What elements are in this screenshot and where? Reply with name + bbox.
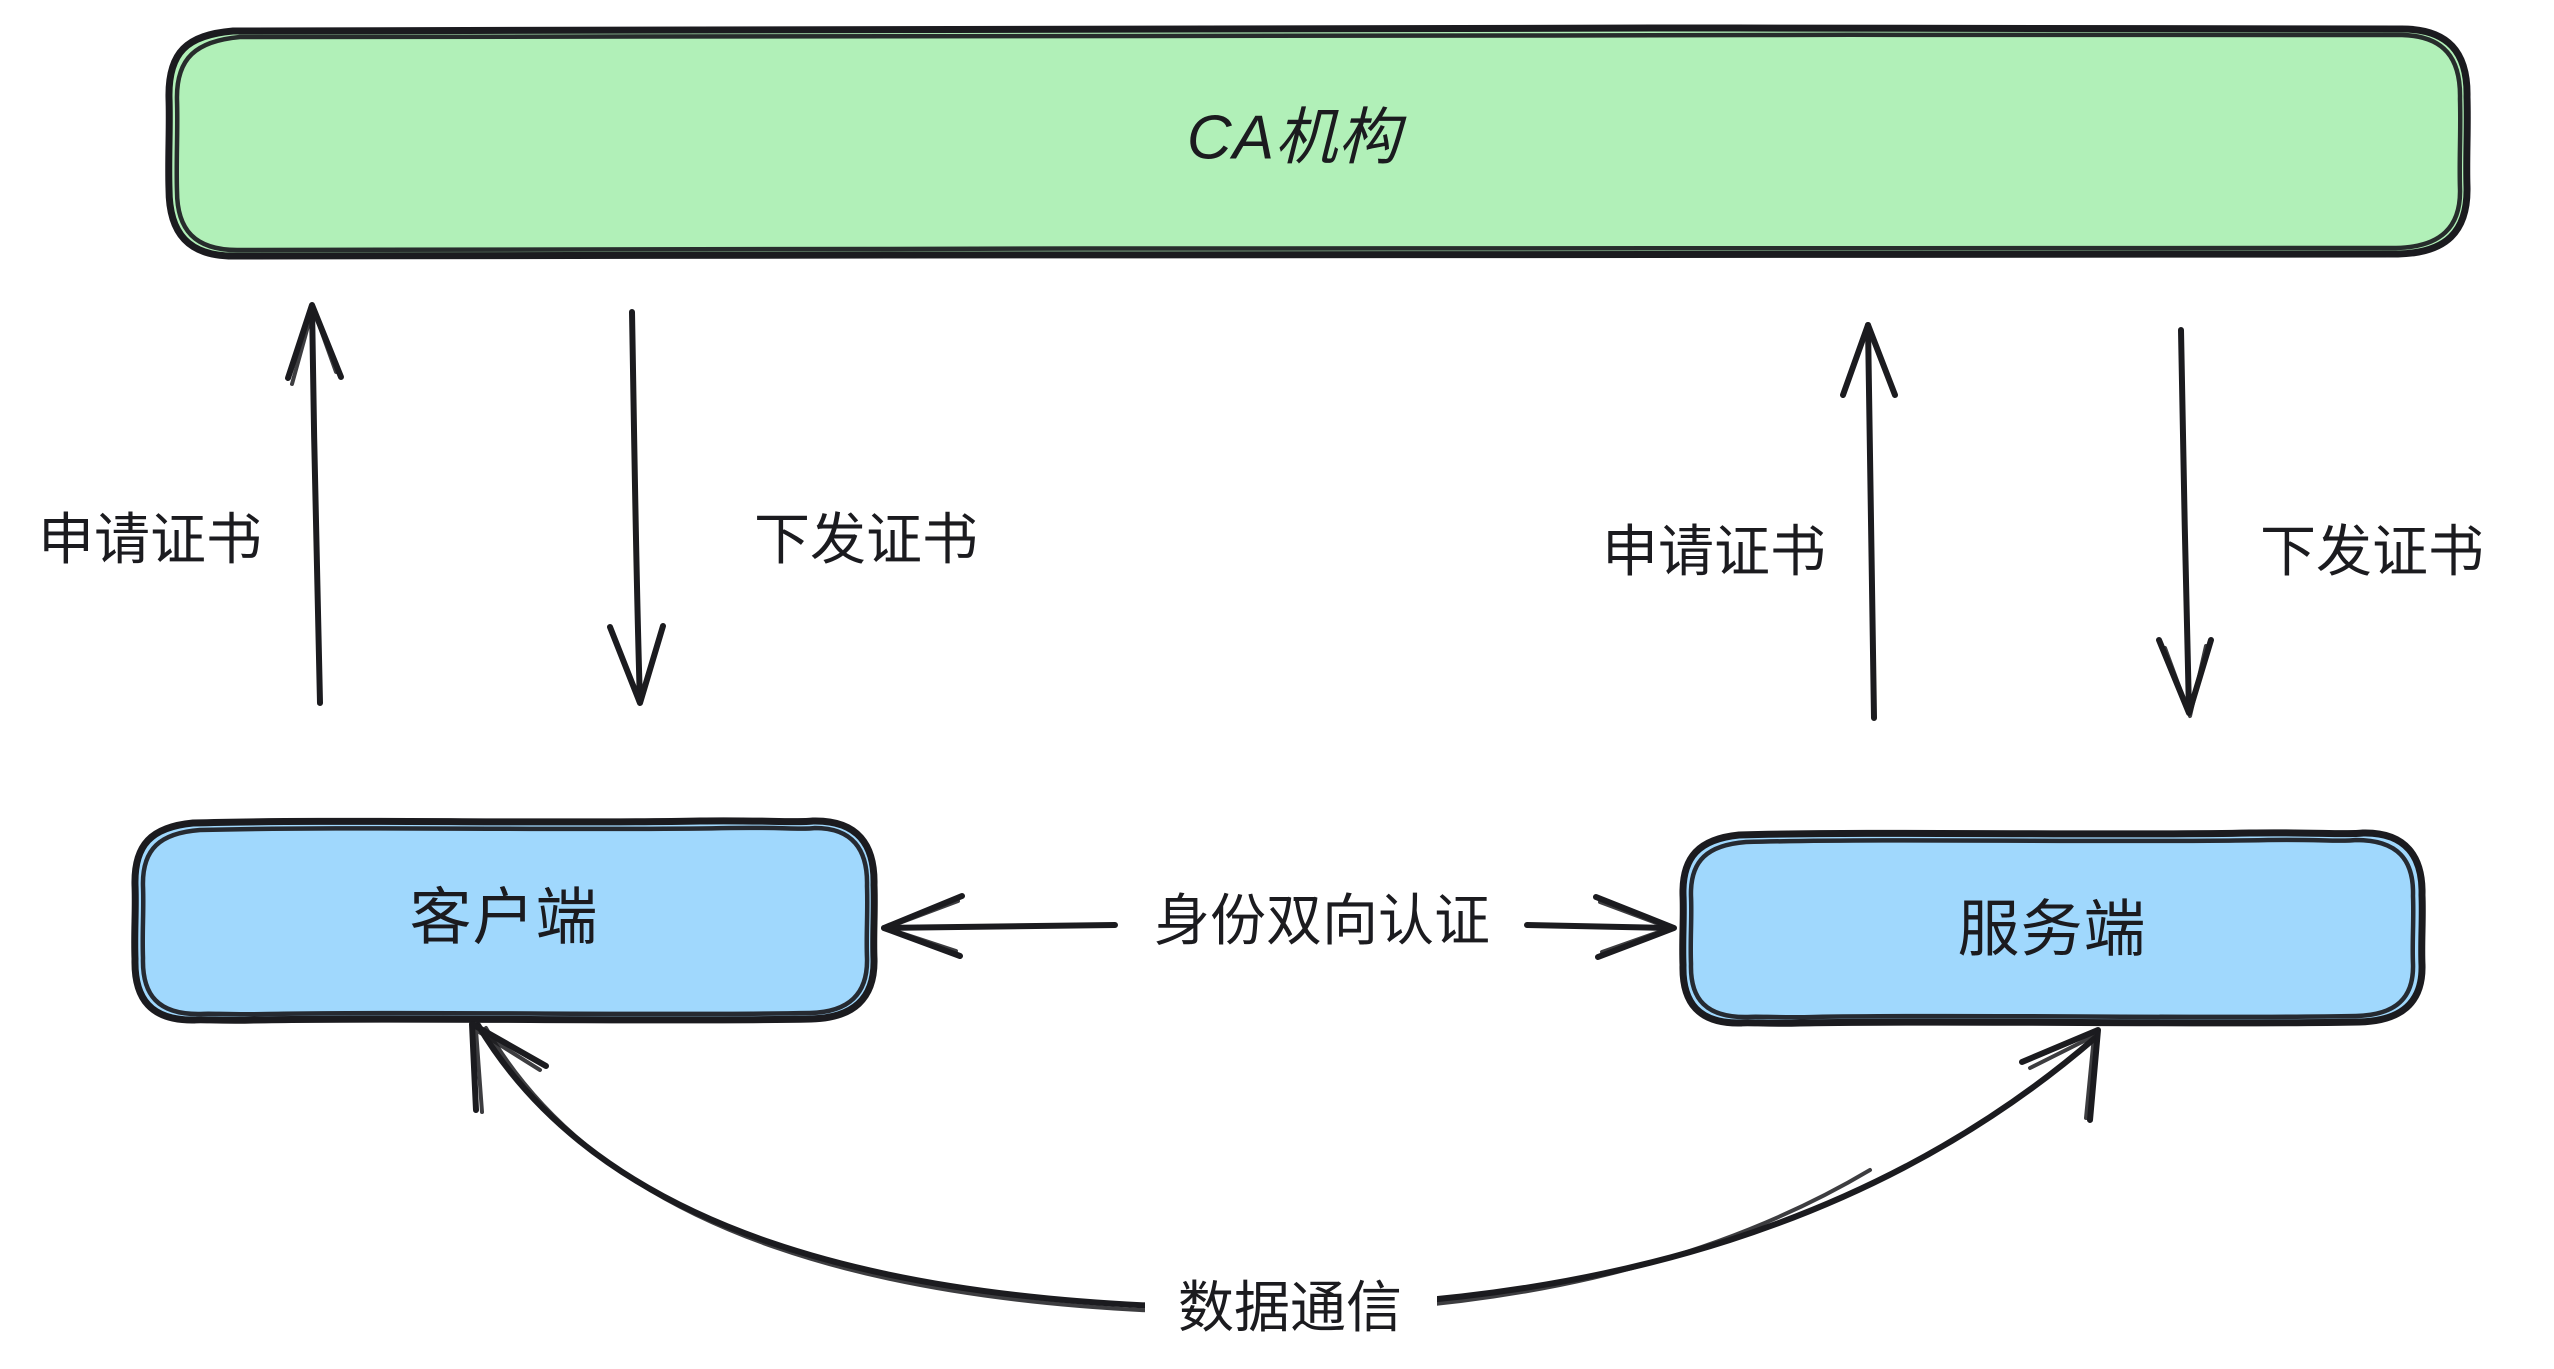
- edge-mutual-auth-shaft-left: [884, 925, 1115, 928]
- edge-mutual-auth[interactable]: 身份双向认证: [884, 889, 1674, 957]
- edge-client-issue-label: 下发证书: [754, 508, 978, 571]
- edge-client-apply-label: 申请证书: [38, 508, 262, 571]
- edge-server-apply-label: 申请证书: [1602, 520, 1826, 583]
- edge-data-comm-arc-sketch: [486, 1028, 1870, 1313]
- edge-client-issue-shaft: [632, 312, 640, 702]
- edge-server-issue[interactable]: 下发证书: [2159, 330, 2484, 716]
- node-client-label: 客户端: [409, 883, 598, 952]
- edge-data-comm-label-front: 数据通信: [1178, 1276, 1402, 1339]
- edge-client-apply[interactable]: 申请证书: [38, 305, 341, 703]
- edge-server-issue-label: 下发证书: [2260, 520, 2484, 583]
- edge-server-issue-shaft: [2181, 330, 2189, 712]
- edge-mutual-auth-shaft-right: [1527, 925, 1672, 928]
- edge-data-comm[interactable]: 数据通信 数据通信: [472, 1024, 2098, 1352]
- edge-server-apply[interactable]: 申请证书: [1602, 325, 1895, 718]
- edge-client-issue[interactable]: 下发证书: [610, 312, 978, 703]
- edge-client-apply-shaft: [312, 306, 320, 703]
- edge-mutual-auth-label: 身份双向认证: [1154, 889, 1490, 952]
- diagram-canvas: CA机构 客户端 服务端 申请证书 下发证书: [0, 0, 2554, 1369]
- node-client[interactable]: 客户端: [135, 821, 875, 1020]
- node-ca[interactable]: CA机构: [168, 28, 2468, 256]
- node-server[interactable]: 服务端: [1682, 833, 2422, 1023]
- edge-server-apply-shaft: [1868, 325, 1874, 718]
- node-server-label: 服务端: [1957, 895, 2146, 964]
- node-ca-label: CA机构: [1187, 103, 1407, 172]
- edge-data-comm-arc: [478, 1025, 2095, 1308]
- diagram-svg: CA机构 客户端 服务端 申请证书 下发证书: [0, 0, 2554, 1369]
